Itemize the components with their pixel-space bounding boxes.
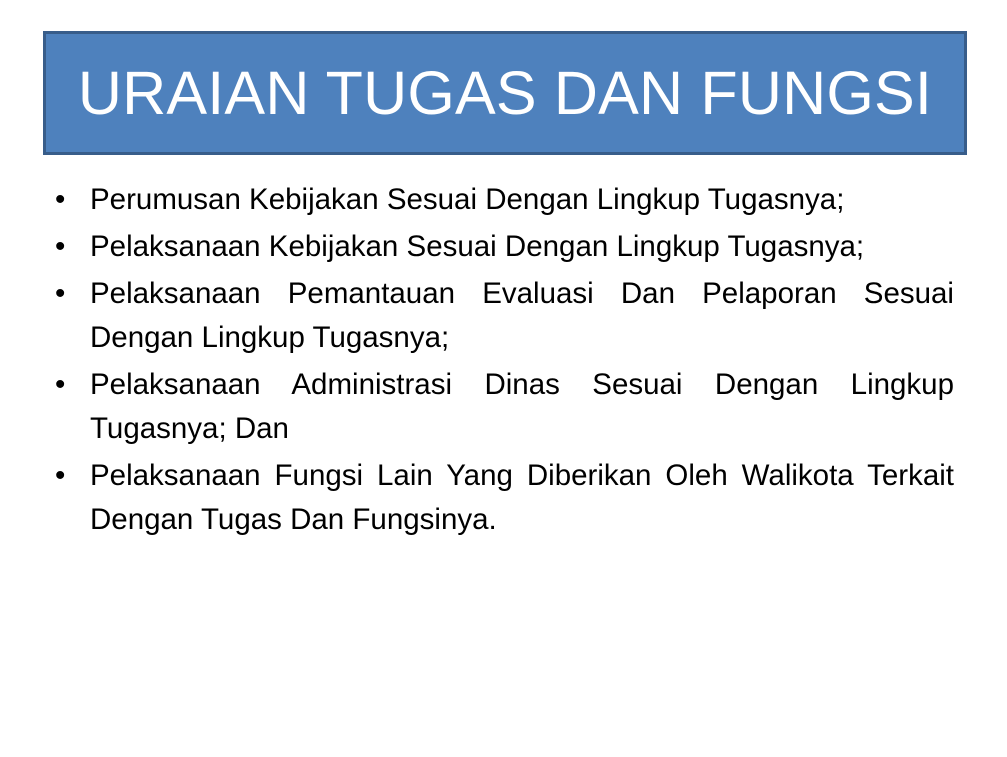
- list-item-text: Pelaksanaan Kebijakan Sesuai Dengan Ling…: [90, 225, 954, 269]
- bullet-dot-icon: •: [55, 454, 77, 498]
- bullet-dot-icon: •: [55, 272, 77, 316]
- bullet-list: • Perumusan Kebijakan Sesuai Dengan Ling…: [49, 178, 954, 542]
- page-title: URAIAN TUGAS DAN FUNGSI: [66, 61, 944, 125]
- list-item-text: Pelaksanaan Pemantauan Evaluasi Dan Pela…: [90, 272, 954, 360]
- bullet-dot-icon: •: [55, 178, 77, 222]
- list-item-text: Perumusan Kebijakan Sesuai Dengan Lingku…: [90, 178, 954, 222]
- list-item: • Pelaksanaan Pemantauan Evaluasi Dan Pe…: [49, 272, 954, 360]
- list-item-text: Pelaksanaan Fungsi Lain Yang Diberikan O…: [90, 454, 954, 542]
- list-item: • Perumusan Kebijakan Sesuai Dengan Ling…: [49, 178, 954, 222]
- bullet-dot-icon: •: [55, 225, 77, 269]
- title-banner: URAIAN TUGAS DAN FUNGSI: [43, 31, 967, 155]
- list-item-text: Pelaksanaan Administrasi Dinas Sesuai De…: [90, 363, 954, 451]
- slide-canvas: URAIAN TUGAS DAN FUNGSI • Perumusan Kebi…: [0, 0, 1007, 757]
- list-item: • Pelaksanaan Kebijakan Sesuai Dengan Li…: [49, 225, 954, 269]
- list-item: • Pelaksanaan Administrasi Dinas Sesuai …: [49, 363, 954, 451]
- list-item: • Pelaksanaan Fungsi Lain Yang Diberikan…: [49, 454, 954, 542]
- bullet-dot-icon: •: [55, 363, 77, 407]
